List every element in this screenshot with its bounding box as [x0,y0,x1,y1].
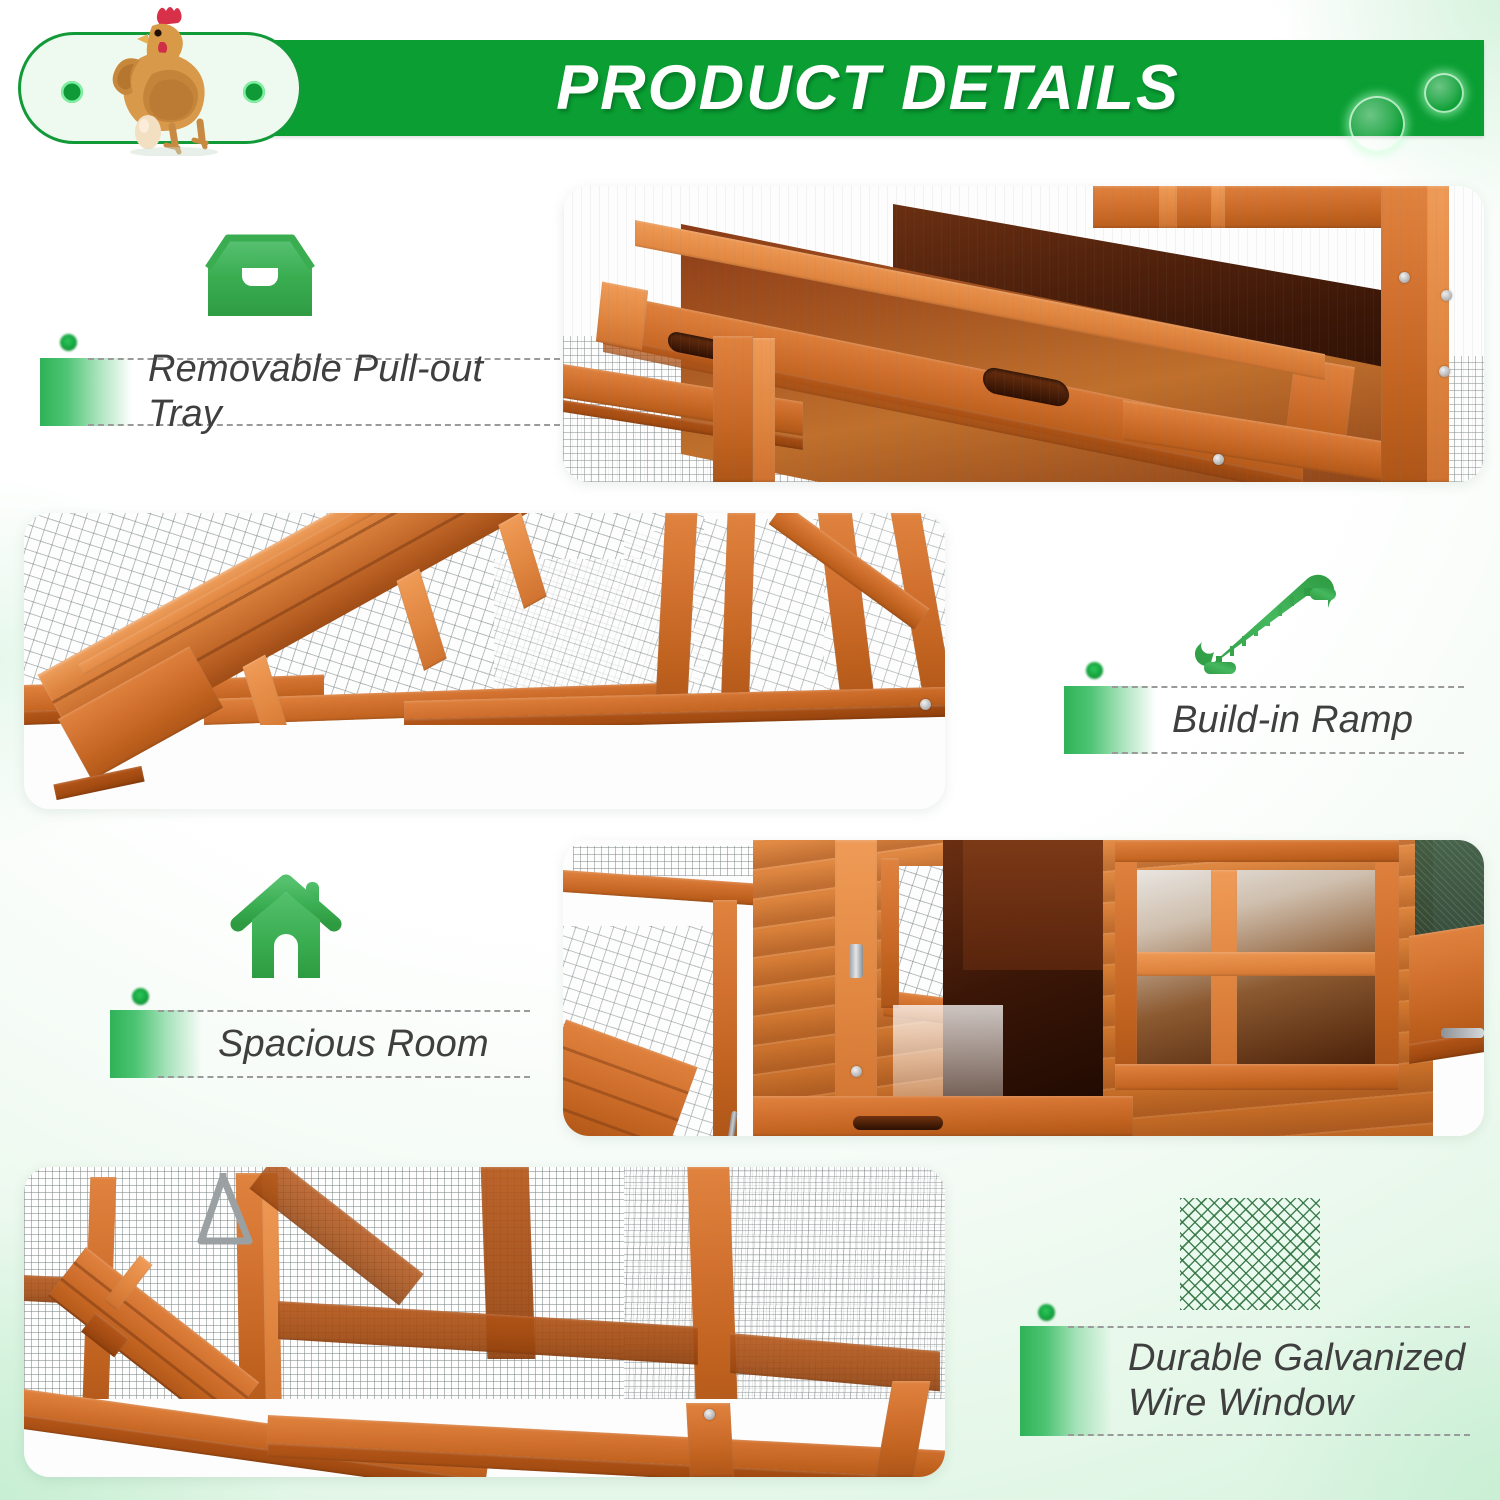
bubble-icon [1424,73,1464,113]
wire-hook-icon [189,1173,261,1251]
product-details-page: PRODUCT DETAILS [0,0,1500,1500]
coop-ramp-illustration [24,513,945,809]
feature-bullet-dot [1086,662,1103,679]
feature-label-box: Spacious Room [158,1010,530,1078]
escalator-ramp-icon [1186,566,1344,676]
feature-label: Build-in Ramp [1172,698,1413,743]
photo-build-in-ramp [24,513,945,809]
feature-label-box: Build-in Ramp [1112,686,1464,754]
feature-label: Spacious Room [218,1022,489,1067]
tray-box-icon [198,232,322,322]
screw-dot-icon [61,81,83,103]
coop-tray-illustration [563,186,1484,482]
coop-run-illustration [24,1167,945,1477]
page-title: PRODUCT DETAILS [318,40,1418,136]
chicken-with-egg-icon [104,4,232,156]
feature-label: Removable Pull-out Tray [148,347,560,437]
photo-wire-window-run [24,1167,945,1477]
house-icon [230,872,348,988]
screw-dot-icon [243,81,265,103]
feature-bullet-dot [1038,1304,1055,1321]
feature-label-box: Removable Pull-out Tray [88,358,560,426]
wire-mesh-icon [1180,1198,1320,1310]
feature-label-box: Durable Galvanized Wire Window [1068,1326,1470,1436]
feature-label: Durable Galvanized Wire Window [1128,1336,1465,1426]
coop-room-illustration [563,840,1484,1136]
feature-bullet-dot [132,988,149,1005]
photo-spacious-room [563,840,1484,1136]
header-banner: PRODUCT DETAILS [18,32,1484,144]
feature-bullet-dot [60,334,77,351]
photo-pull-out-tray [563,186,1484,482]
